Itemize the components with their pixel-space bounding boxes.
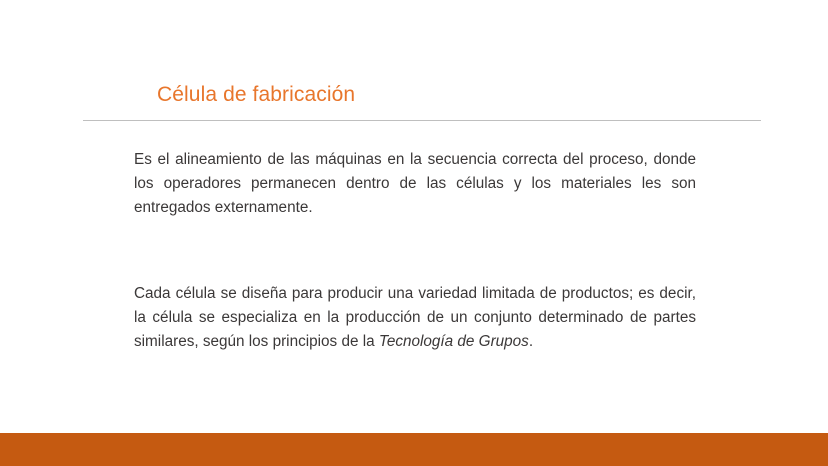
body-paragraph-2: Cada célula se diseña para producir una … bbox=[134, 282, 696, 354]
footer-spacer bbox=[0, 424, 828, 433]
title-divider bbox=[83, 120, 761, 121]
page-title: Célula de fabricación bbox=[157, 83, 355, 107]
slide: Célula de fabricación Es el alineamiento… bbox=[0, 0, 828, 466]
footer-accent-bar bbox=[0, 433, 828, 466]
body-paragraph-1: Es el alineamiento de las máquinas en la… bbox=[134, 148, 696, 220]
body-paragraph-2-emphasis: Tecnología de Grupos bbox=[379, 333, 529, 350]
body-paragraph-2-tail: . bbox=[529, 333, 533, 350]
slide-body: Es el alineamiento de las máquinas en la… bbox=[134, 148, 696, 354]
